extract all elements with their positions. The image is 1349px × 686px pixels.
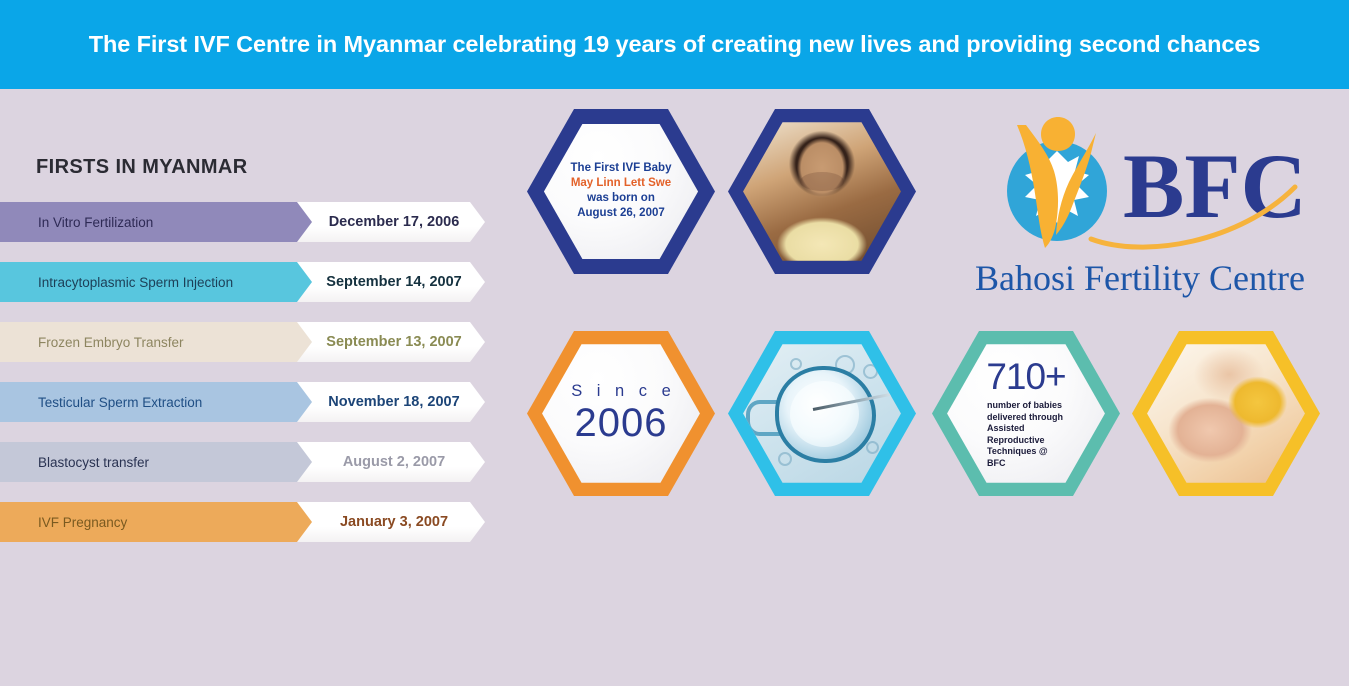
list-item: Frozen Embryo Transfer September 13, 200… <box>0 322 500 362</box>
hex-inner: The First IVF Baby May Linn Lett Swe was… <box>544 124 698 259</box>
list-item: Testicular Sperm Extraction November 18,… <box>0 382 500 422</box>
announcement-line-3: was born on <box>587 191 655 206</box>
row-label: Blastocyst transfer <box>38 455 149 470</box>
row-date: September 14, 2007 <box>320 274 461 290</box>
hex-inner <box>743 344 901 483</box>
row-bar-ivf-pregnancy: IVF Pregnancy <box>0 502 320 542</box>
row-date-badge: January 3, 2007 <box>297 502 485 542</box>
ivf-baby-portrait-photo-icon <box>743 122 901 261</box>
row-bar-testicular-sperm-extraction: Testicular Sperm Extraction <box>0 382 320 422</box>
hex-ivf-baby-portrait <box>728 109 916 274</box>
row-label: In Vitro Fertilization <box>38 215 153 230</box>
row-bar-blastocyst-transfer: Blastocyst transfer <box>0 442 320 482</box>
hex-hands-holding-egg <box>1132 331 1320 496</box>
row-label: Intracytoplasmic Sperm Injection <box>38 275 233 290</box>
bfc-logo-block: BFC Bahosi Fertility Centre <box>940 99 1340 324</box>
announcement-baby-name: May Linn Lett Swe <box>571 176 671 191</box>
row-date-badge: September 14, 2007 <box>297 262 485 302</box>
hex-since-year: S i n c e 2006 <box>527 331 715 496</box>
bubble-icon <box>778 452 792 466</box>
firsts-in-myanmar-panel: FIRSTS IN MYANMAR In Vitro Fertilization… <box>0 89 500 686</box>
row-date-badge: September 13, 2007 <box>297 322 485 362</box>
row-bar-intracytoplasmic-sperm-injection: Intracytoplasmic Sperm Injection <box>0 262 320 302</box>
since-label: S i n c e <box>571 382 676 401</box>
row-date: December 17, 2006 <box>323 214 460 230</box>
row-bar-frozen-embryo-transfer: Frozen Embryo Transfer <box>0 322 320 362</box>
hex-inner <box>1147 344 1305 483</box>
firsts-heading: FIRSTS IN MYANMAR <box>36 156 248 179</box>
row-label: IVF Pregnancy <box>38 515 127 530</box>
row-bar-in-vitro-fertilization: In Vitro Fertilization <box>0 202 320 242</box>
announcement-birth-date: August 26, 2007 <box>577 206 665 221</box>
row-label: Testicular Sperm Extraction <box>38 395 202 410</box>
row-date: November 18, 2007 <box>322 394 459 410</box>
hex-inner: 710+ number of babies delivered through … <box>947 344 1105 483</box>
row-date-badge: November 18, 2007 <box>297 382 485 422</box>
bubble-icon <box>863 364 878 379</box>
page-title: The First IVF Centre in Myanmar celebrat… <box>89 31 1261 58</box>
firsts-list: In Vitro Fertilization December 17, 2006… <box>0 202 500 562</box>
bfc-wordmark: Bahosi Fertility Centre <box>940 257 1340 299</box>
hex-icsi-embryo <box>728 331 916 496</box>
stat-caption-line-1: number of babies <box>987 400 1065 412</box>
stat-caption-line-3: Assisted Reproductive <box>987 423 1065 446</box>
hexagon-gallery: The First IVF Baby May Linn Lett Swe was… <box>500 89 1349 686</box>
since-year: 2006 <box>575 401 668 445</box>
stat-caption-line-2: delivered through <box>987 412 1065 424</box>
svg-text:BFC: BFC <box>1123 135 1307 237</box>
hex-inner: S i n c e 2006 <box>542 344 700 483</box>
bubble-icon <box>866 441 879 454</box>
row-date: August 2, 2007 <box>337 454 445 470</box>
list-item: In Vitro Fertilization December 17, 2006 <box>0 202 500 242</box>
hex-inner <box>743 122 901 261</box>
row-date: September 13, 2007 <box>320 334 461 350</box>
list-item: IVF Pregnancy January 3, 2007 <box>0 502 500 542</box>
row-label: Frozen Embryo Transfer <box>38 335 184 350</box>
bfc-logo-mark: BFC <box>940 99 1340 254</box>
hands-holding-golden-egg-photo-icon <box>1147 344 1305 483</box>
stat-caption: number of babies delivered through Assis… <box>987 400 1065 469</box>
row-date: January 3, 2007 <box>334 514 448 530</box>
stat-caption-line-4: Techniques @ BFC <box>987 446 1065 469</box>
icsi-embryo-illustration-icon <box>743 344 901 483</box>
row-date-badge: December 17, 2006 <box>297 202 485 242</box>
bubble-icon <box>790 358 802 370</box>
list-item: Blastocyst transfer August 2, 2007 <box>0 442 500 482</box>
stat-number: 710+ <box>986 358 1065 396</box>
oocyte-icon <box>775 366 876 463</box>
bfc-logo-icon: BFC <box>995 99 1315 254</box>
hex-first-ivf-baby-announcement: The First IVF Baby May Linn Lett Swe was… <box>527 109 715 274</box>
header-banner: The First IVF Centre in Myanmar celebrat… <box>0 0 1349 89</box>
hex-babies-delivered-stat: 710+ number of babies delivered through … <box>932 331 1120 496</box>
list-item: Intracytoplasmic Sperm Injection Septemb… <box>0 262 500 302</box>
announcement-line-1: The First IVF Baby <box>571 161 672 176</box>
row-date-badge: August 2, 2007 <box>297 442 485 482</box>
